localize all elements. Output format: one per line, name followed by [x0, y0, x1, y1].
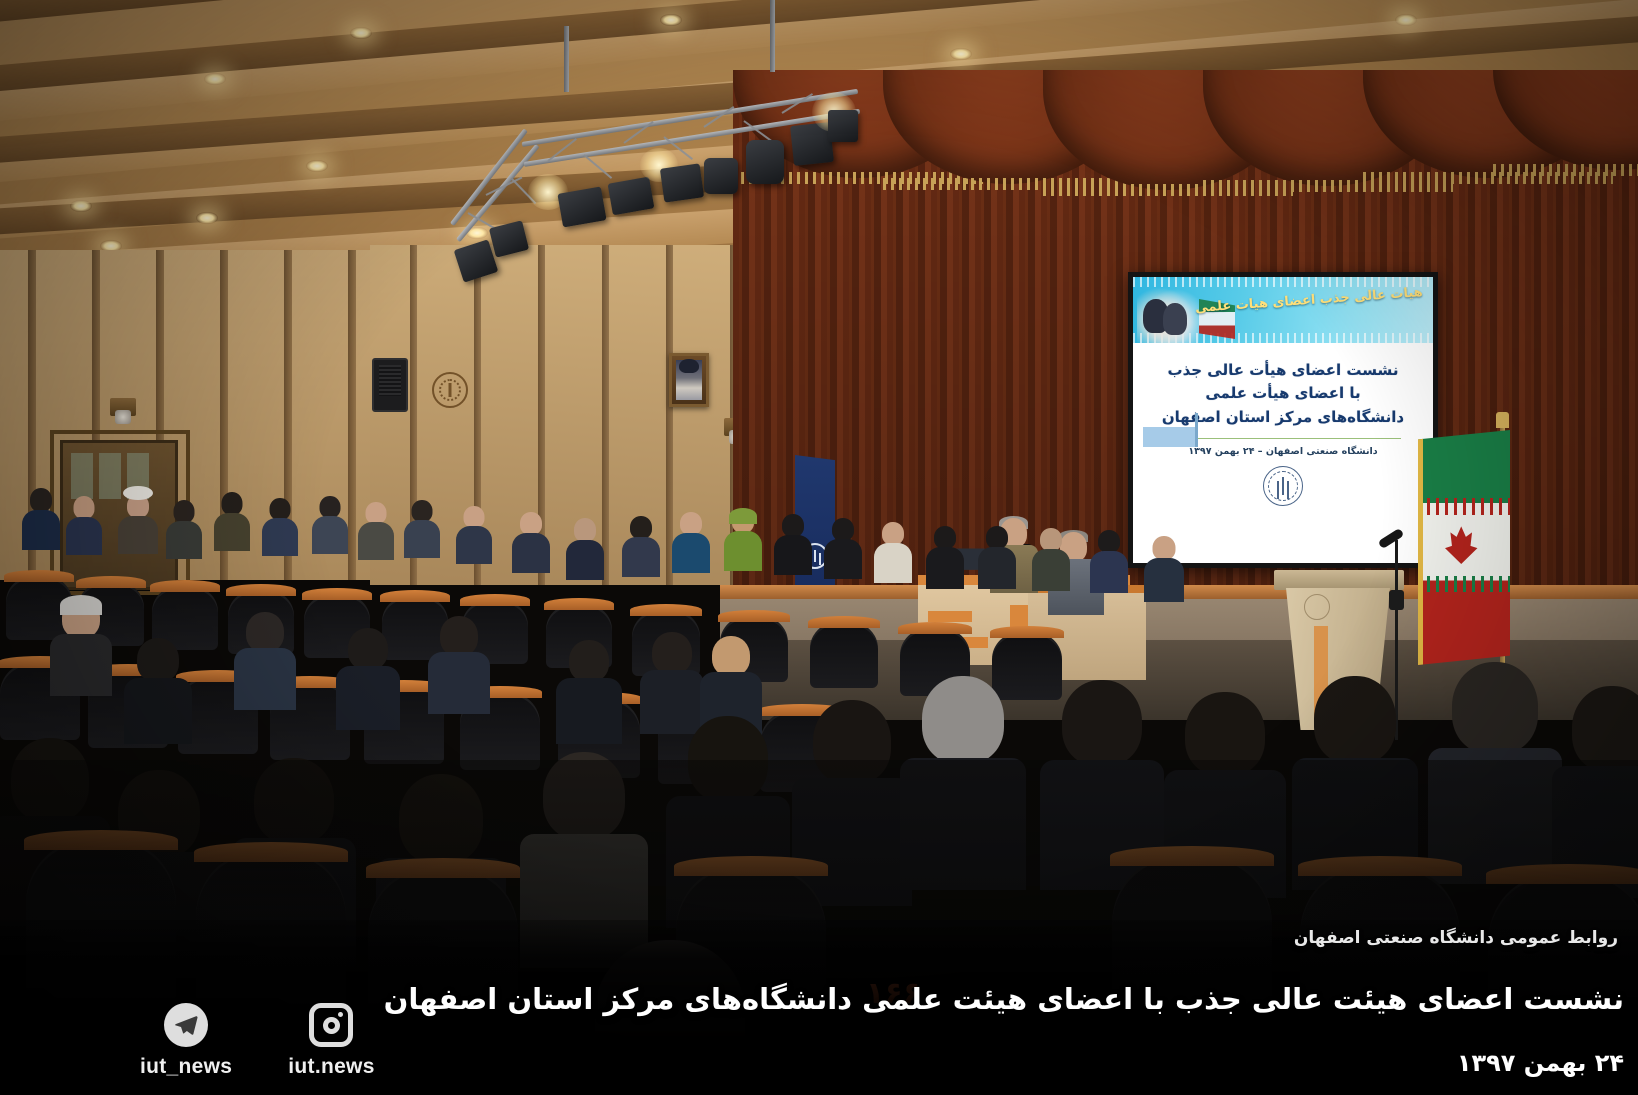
- audience-member: [234, 612, 296, 704]
- slide-accent-block: [1143, 427, 1197, 447]
- slide-subtitle: دانشگاه صنعتی اصفهان – ۲۴ بهمن ۱۳۹۷: [1147, 446, 1419, 457]
- photo-canvas: هیات عالی جذب اعضای هیات علمی نشست اعضای…: [0, 0, 1638, 1095]
- social-links: iut_news iut.news: [140, 1003, 375, 1079]
- caption-headline: نشست اعضای هیئت عالی جذب با اعضای هیئت ع…: [1110, 981, 1624, 1017]
- audience-member: [214, 492, 250, 548]
- leaders-portrait-graphic: [1137, 283, 1199, 343]
- slide-title-line-2: با اعضای هیأت علمی: [1147, 382, 1419, 405]
- audience-member: [566, 518, 604, 576]
- ceiling-light: [306, 160, 328, 172]
- audience-member: [358, 502, 394, 556]
- instagram-icon[interactable]: [309, 1003, 353, 1047]
- audience-member: [22, 488, 60, 546]
- audience-member: [262, 498, 298, 552]
- slide-title-line-1: نشست اعضای هیأت عالی جذب: [1147, 359, 1419, 382]
- audience-member: [428, 616, 490, 708]
- audience-member-cleric: [118, 490, 158, 548]
- audience-member: [1090, 530, 1128, 588]
- lighting-truss: [452, 62, 852, 297]
- audience-member: [66, 496, 102, 552]
- ceiling-light: [204, 73, 226, 85]
- stage-light: [660, 163, 704, 202]
- audience-member: [724, 510, 762, 566]
- audience-member: [166, 500, 202, 554]
- telegram-icon[interactable]: [164, 1003, 208, 1047]
- stage-light: [608, 177, 655, 216]
- audience-member: [1144, 536, 1184, 596]
- slide-title-line-3: دانشگاه‌های مرکز استان اصفهان: [1147, 406, 1419, 429]
- ceiling-light: [660, 14, 682, 26]
- audience-member: [978, 526, 1016, 584]
- slide-banner: هیات عالی جذب اعضای هیات علمی: [1133, 277, 1433, 343]
- slide-accent-bar: [1195, 413, 1198, 447]
- ceiling-light: [950, 48, 972, 60]
- audience-member: [824, 518, 862, 574]
- auditorium-seat: [810, 622, 878, 688]
- stage-light: [489, 220, 529, 257]
- framed-portrait: [669, 353, 709, 407]
- audience-member: [512, 512, 550, 568]
- public-relations-watermark: روابط عمومی دانشگاه صنعتی اصفهان: [1294, 928, 1618, 948]
- telegram-link[interactable]: iut_news: [140, 1003, 232, 1079]
- curtain-valance: [733, 70, 1638, 260]
- audience-member: [556, 640, 622, 738]
- stage-light: [746, 140, 784, 184]
- instagram-link[interactable]: iut.news: [288, 1003, 374, 1079]
- audience-member: [404, 500, 440, 554]
- stage-light: [704, 158, 738, 194]
- audience-member: [622, 516, 660, 572]
- audience-member: [50, 598, 112, 690]
- ceiling-light: [70, 200, 92, 212]
- telegram-handle: iut_news: [140, 1055, 232, 1079]
- audience-member: [926, 526, 964, 584]
- wall-sconce: [110, 398, 136, 416]
- audience-member: [456, 506, 492, 560]
- instagram-handle: iut.news: [288, 1055, 374, 1079]
- audience-member: [1032, 528, 1070, 586]
- slide-banner-script: هیات عالی جذب اعضای هیات علمی: [1195, 285, 1423, 316]
- audience-member: [874, 522, 912, 578]
- ceiling-light: [350, 27, 372, 39]
- stage-light: [557, 186, 606, 227]
- audience-member: [336, 628, 400, 724]
- ceiling-light: [196, 212, 218, 224]
- stage-light: [454, 239, 499, 282]
- audience-member: [774, 514, 812, 570]
- ceiling-light: [1395, 14, 1417, 26]
- iut-gear-logo-wall: [432, 372, 468, 408]
- stage-light: [828, 110, 858, 142]
- audience-member: [640, 632, 704, 728]
- caption-band: روابط عمومی دانشگاه صنعتی اصفهان نشست اع…: [0, 920, 1638, 1095]
- slide-divider: [1165, 438, 1401, 439]
- audience-member: [312, 496, 348, 550]
- caption-date: ۲۴ بهمن ۱۳۹۷: [1457, 1049, 1624, 1077]
- wall-speaker-left: [372, 358, 408, 412]
- flag-pole-finial: [1496, 412, 1509, 428]
- audience-member: [672, 512, 710, 568]
- audience-member: [124, 638, 192, 738]
